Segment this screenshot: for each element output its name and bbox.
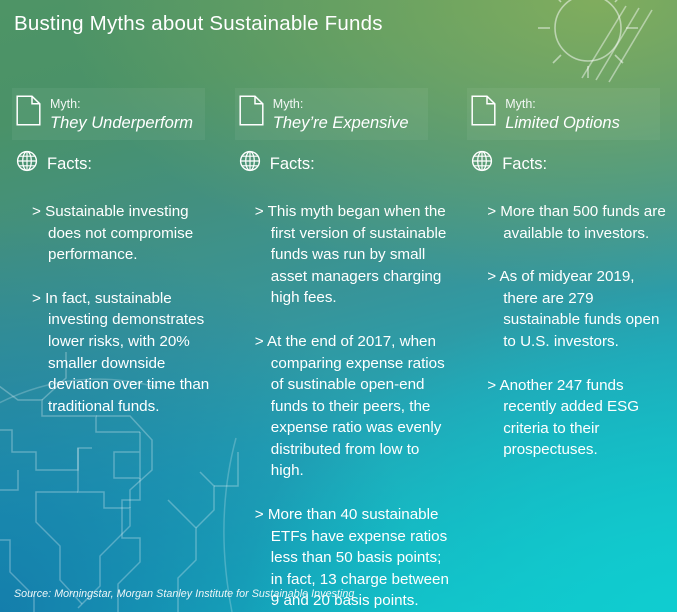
myth-kicker-1: Myth:: [50, 97, 81, 111]
facts-header-2: Facts:: [235, 150, 455, 177]
myth-column-1: Myth: They Underperform Facts:: [0, 88, 222, 612]
myth-header-2: Myth: They’re Expensive: [235, 88, 428, 140]
document-icon: [16, 95, 41, 131]
page-title-bar: Busting Myths about Sustainable Funds: [14, 12, 534, 37]
fact-item: > Sustainable investing does not comprom…: [32, 201, 214, 266]
globe-icon: [16, 150, 38, 177]
myth-label-wrap-2: Myth: They’re Expensive: [273, 94, 409, 133]
myth-label-wrap-3: Myth: Limited Options: [505, 94, 620, 133]
facts-list-2: > This myth began when the first version…: [235, 201, 455, 612]
myth-columns: Myth: They Underperform Facts:: [0, 88, 677, 612]
myth-name-3: Limited Options: [505, 113, 620, 133]
fact-item: > In fact, sustainable investing demonst…: [32, 288, 214, 417]
fact-item: > At the end of 2017, when comparing exp…: [255, 331, 453, 482]
globe-icon: [471, 150, 493, 177]
document-icon: [239, 95, 264, 131]
myth-name-1: They Underperform: [50, 113, 193, 133]
fact-item: > As of midyear 2019, there are 279 sust…: [487, 266, 673, 352]
facts-header-3: Facts:: [467, 150, 677, 177]
page-title: Busting Myths about Sustainable Funds: [14, 12, 534, 37]
infographic-canvas: Busting Myths about Sustainable Funds My…: [0, 0, 677, 612]
sun-icon: [538, 0, 638, 78]
facts-label-2: Facts:: [270, 155, 315, 173]
source-note: Source: Morningstar, Morgan Stanley Inst…: [14, 588, 354, 600]
diagonal-rays-decoration: [582, 6, 652, 82]
myth-kicker-3: Myth:: [505, 97, 536, 111]
myth-column-2: Myth: They’re Expensive Facts:: [222, 88, 455, 612]
facts-label-3: Facts:: [502, 155, 547, 173]
facts-label-1: Facts:: [47, 155, 92, 173]
fact-item: > This myth began when the first version…: [255, 201, 453, 309]
myth-column-3: Myth: Limited Options Facts:: [455, 88, 677, 612]
globe-icon: [239, 150, 261, 177]
fact-item: > More than 500 funds are available to i…: [487, 201, 673, 244]
fact-item: > Another 247 funds recently added ESG c…: [487, 375, 673, 461]
myth-header-1: Myth: They Underperform: [12, 88, 205, 140]
document-icon: [471, 95, 496, 131]
myth-label-wrap-1: Myth: They Underperform: [50, 94, 193, 133]
facts-list-1: > Sustainable investing does not comprom…: [12, 201, 222, 417]
myth-header-3: Myth: Limited Options: [467, 88, 660, 140]
myth-kicker-2: Myth:: [273, 97, 304, 111]
myth-name-2: They’re Expensive: [273, 113, 409, 133]
facts-list-3: > More than 500 funds are available to i…: [467, 201, 677, 461]
facts-header-1: Facts:: [12, 150, 222, 177]
